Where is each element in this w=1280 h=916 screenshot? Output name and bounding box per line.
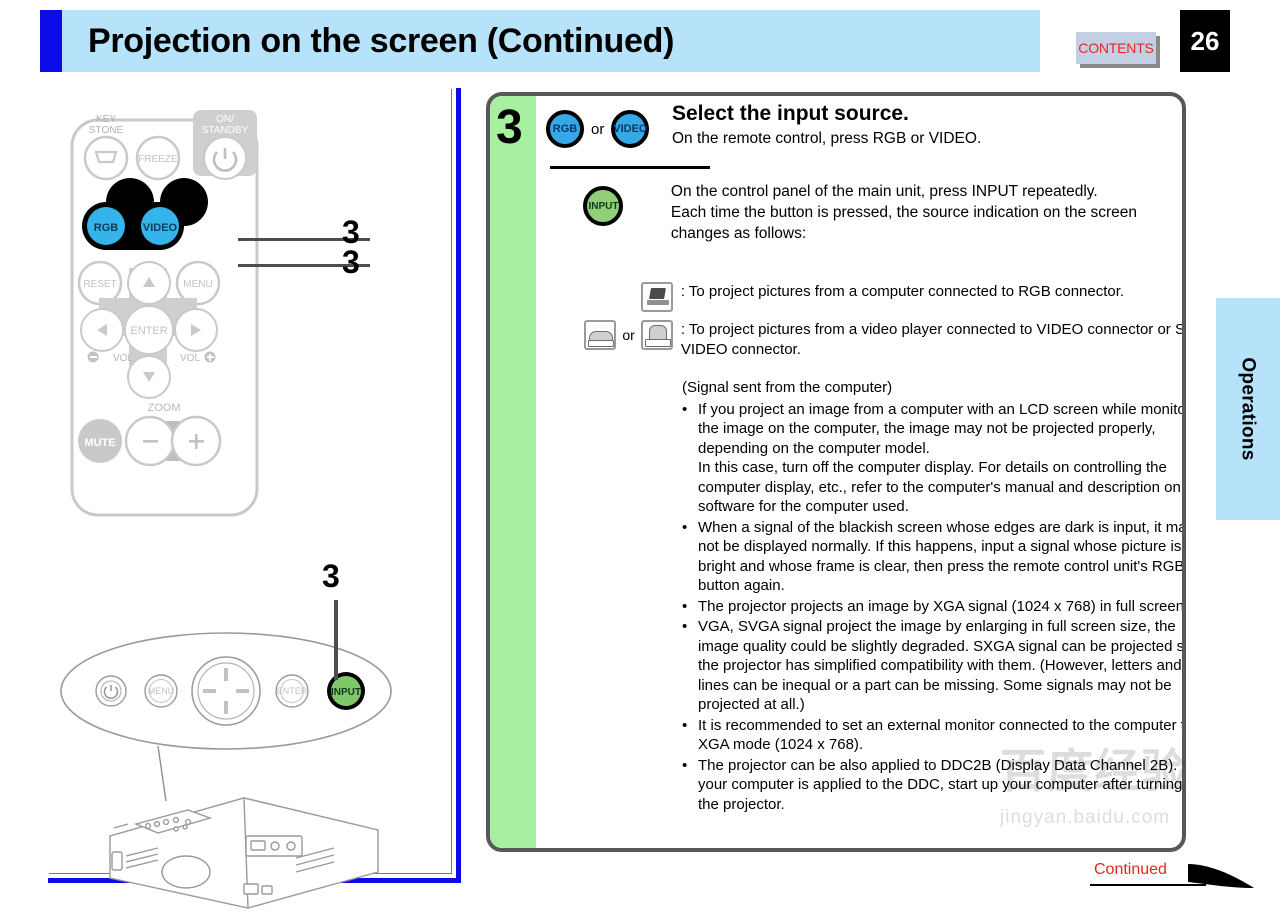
note-paragraph: If you project an image from a computer … bbox=[698, 400, 1186, 459]
section-divider bbox=[550, 166, 710, 169]
laptop-icon bbox=[641, 282, 673, 312]
step-card: 3 RGB or VIDEO Select the input source. … bbox=[486, 92, 1186, 852]
note-paragraph: When a signal of the blackish screen who… bbox=[698, 518, 1186, 596]
note-paragraph: The projector projects an image by XGA s… bbox=[698, 597, 1186, 617]
step-number: 3 bbox=[496, 104, 523, 152]
page-number: 26 bbox=[1191, 26, 1220, 57]
legend-row-rgb: : To project pictures from a computer co… bbox=[546, 282, 1186, 312]
svg-text:FREEZE: FREEZE bbox=[138, 154, 178, 165]
svg-text:VOL: VOL bbox=[180, 353, 200, 364]
section-tab-operations[interactable]: Operations bbox=[1216, 298, 1280, 520]
note-paragraph: The projector can be also applied to DDC… bbox=[698, 756, 1186, 815]
callout-number-remote-2: 3 bbox=[342, 246, 360, 278]
svg-text:VOL: VOL bbox=[113, 353, 133, 364]
note-bullet: • bbox=[682, 716, 698, 755]
contents-button-label: CONTENTS bbox=[1078, 40, 1153, 56]
note-bullet: • bbox=[682, 518, 698, 596]
svg-text:VIDEO: VIDEO bbox=[143, 222, 178, 234]
note-body: When a signal of the blackish screen who… bbox=[698, 518, 1186, 596]
svg-text:ON/: ON/ bbox=[216, 114, 234, 125]
note-item: • The projector projects an image by XGA… bbox=[682, 597, 1186, 617]
section-tab-label: Operations bbox=[1237, 357, 1259, 460]
source-legend: : To project pictures from a computer co… bbox=[546, 282, 1186, 368]
remote-button-row: RGB or VIDEO bbox=[546, 102, 662, 148]
or-label-1: or bbox=[591, 121, 604, 138]
step-header: RGB or VIDEO Select the input source. On… bbox=[546, 102, 1176, 150]
page-title: Projection on the screen (Continued) bbox=[88, 22, 674, 61]
control-panel-diagram: MENU ENTER INPUT bbox=[48, 586, 448, 916]
legend-icons-rgb bbox=[546, 282, 681, 312]
video-deck-icon bbox=[584, 320, 616, 350]
note-bullet: • bbox=[682, 597, 698, 617]
note-item: • It is recommended to set an external m… bbox=[682, 716, 1186, 755]
svg-text:ZOOM: ZOOM bbox=[148, 402, 181, 414]
note-paragraph: It is recommended to set an external mon… bbox=[698, 716, 1186, 755]
leader-line-input bbox=[334, 600, 338, 680]
step-head-text: Select the input source. On the remote c… bbox=[672, 102, 981, 150]
legend-text-rgb: : To project pictures from a computer co… bbox=[681, 282, 1186, 302]
svg-text:RGB: RGB bbox=[94, 222, 119, 234]
svg-text:ENTER: ENTER bbox=[277, 686, 308, 696]
svg-text:STANDBY: STANDBY bbox=[202, 125, 249, 136]
input-button-icon[interactable]: INPUT bbox=[583, 186, 623, 226]
note-bullet: • bbox=[682, 617, 698, 715]
legend-row-video: or : To project pictures from a video pl… bbox=[546, 320, 1186, 360]
svg-text:MENU: MENU bbox=[183, 279, 212, 290]
step-title: Select the input source. bbox=[672, 102, 981, 125]
note-bullet: • bbox=[682, 400, 698, 517]
svg-text:STONE: STONE bbox=[89, 125, 124, 136]
step-subtitle: On the remote control, press RGB or VIDE… bbox=[672, 129, 981, 150]
callout-number-control-panel: 3 bbox=[322, 560, 340, 592]
legend-text-video: : To project pictures from a video playe… bbox=[681, 320, 1186, 360]
svg-text:INPUT: INPUT bbox=[331, 687, 361, 698]
svideo-deck-icon bbox=[641, 320, 673, 350]
continued-label: Continued bbox=[1094, 861, 1167, 879]
note-item: • When a signal of the blackish screen w… bbox=[682, 518, 1186, 596]
note-item: • The projector can be also applied to D… bbox=[682, 756, 1186, 815]
notes-section: (Signal sent from the computer) • If you… bbox=[682, 378, 1186, 815]
legend-icons-video: or bbox=[546, 320, 681, 350]
page-number-box: 26 bbox=[1180, 10, 1230, 72]
svg-text:RESET: RESET bbox=[83, 279, 116, 290]
video-button-icon[interactable]: VIDEO bbox=[611, 110, 649, 148]
note-body: If you project an image from a computer … bbox=[698, 400, 1186, 517]
continued-arrow-icon bbox=[1186, 858, 1256, 894]
note-body: The projector projects an image by XGA s… bbox=[698, 597, 1186, 617]
note-paragraph: In this case, turn off the computer disp… bbox=[698, 458, 1186, 517]
svg-text:MENU: MENU bbox=[148, 686, 175, 696]
contents-button[interactable]: CONTENTS bbox=[1076, 32, 1156, 64]
input-button-wrap: INPUT bbox=[546, 182, 661, 226]
svg-text:MUTE: MUTE bbox=[84, 437, 115, 449]
note-bullet: • bbox=[682, 756, 698, 815]
note-body: It is recommended to set an external mon… bbox=[698, 716, 1186, 755]
note-item: • VGA, SVGA signal project the image by … bbox=[682, 617, 1186, 715]
remote-control-diagram: KEY STONE ON/ STANDBY FREEZE RGB VIDEO bbox=[58, 106, 368, 526]
note-body: VGA, SVGA signal project the image by en… bbox=[698, 617, 1186, 715]
note-item: • If you project an image from a compute… bbox=[682, 400, 1186, 517]
input-instruction-text: On the control panel of the main unit, p… bbox=[671, 182, 1186, 244]
step-accent-strip bbox=[490, 96, 536, 848]
note-body: The projector can be also applied to DDC… bbox=[698, 756, 1186, 815]
step-card-content: RGB or VIDEO Select the input source. On… bbox=[542, 96, 1182, 848]
or-label-2: or bbox=[622, 327, 634, 343]
svg-text:KEY: KEY bbox=[96, 114, 116, 125]
left-illustration-panel: KEY STONE ON/ STANDBY FREEZE RGB VIDEO bbox=[48, 88, 456, 878]
note-paragraph: VGA, SVGA signal project the image by en… bbox=[698, 617, 1186, 715]
notes-lead: (Signal sent from the computer) bbox=[682, 378, 1186, 398]
svg-text:ENTER: ENTER bbox=[130, 325, 167, 337]
header-accent-bar bbox=[40, 10, 62, 72]
rgb-button-icon[interactable]: RGB bbox=[546, 110, 584, 148]
input-instruction-block: INPUT On the control panel of the main u… bbox=[546, 182, 1186, 244]
